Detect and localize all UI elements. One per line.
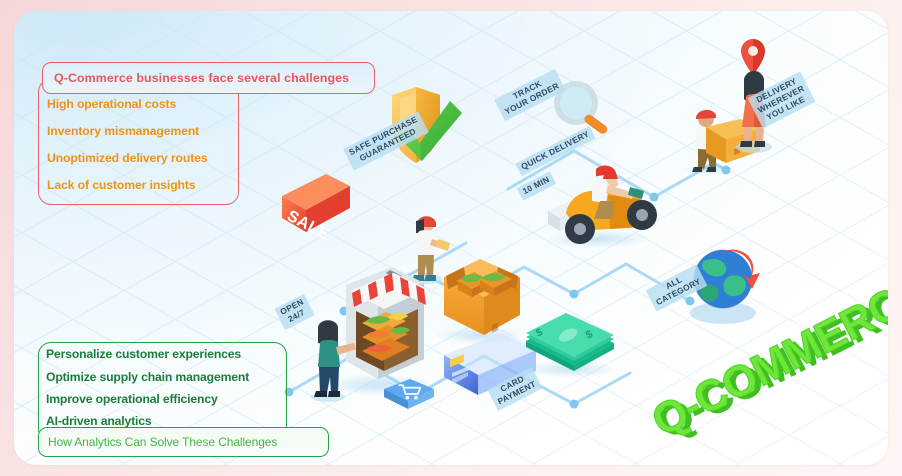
challenge-item-1: High operational costs <box>47 97 176 111</box>
cash-stack: $ $ <box>522 313 618 378</box>
sale-tag: SALE <box>282 174 350 244</box>
phone-storefront <box>322 267 434 396</box>
challenge-item-3: Unoptimized delivery routes <box>47 151 208 165</box>
infographic-canvas: $ $ <box>14 11 888 465</box>
solution-item-3: Improve operational efficiency <box>46 392 218 406</box>
solution-item-1: Personalize customer experiences <box>46 347 241 361</box>
infographic-frame: $ $ <box>0 0 902 476</box>
scooter-courier <box>546 166 657 248</box>
challenge-item-4: Lack of customer insights <box>47 178 196 192</box>
produce-box <box>434 259 526 344</box>
location-pin-icon <box>741 39 765 75</box>
solution-item-2: Optimize supply chain management <box>46 370 249 384</box>
warehouse-worker <box>410 216 450 284</box>
challenges-title: Q-Commerce businesses face several chall… <box>42 62 375 94</box>
solutions-caption: How Analytics Can Solve These Challenges <box>38 427 329 457</box>
challenge-item-2: Inventory mismanagement <box>47 124 199 138</box>
solution-item-4: AI-driven analytics <box>46 414 152 428</box>
